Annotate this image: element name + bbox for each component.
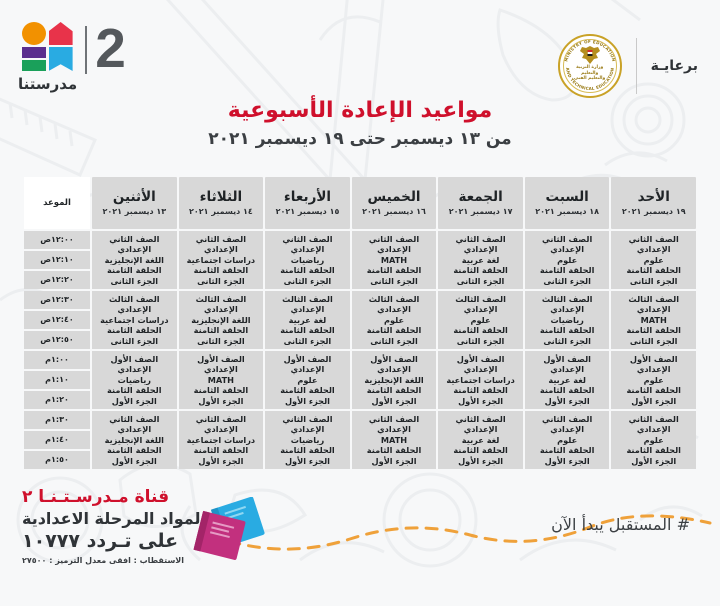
lesson-cell[interactable]: الصف الثاني الإعدادي رياضيات الحلقة الثا… bbox=[265, 411, 350, 469]
lesson-cell[interactable]: الصف الثالث الإعدادي اللغة الإنجليزية ال… bbox=[179, 291, 264, 349]
madrasatna-logo: مدرستنا bbox=[18, 22, 77, 93]
day-name: الخميس bbox=[352, 190, 437, 205]
time-slot[interactable]: ١٢:١٠ص bbox=[24, 251, 90, 269]
lesson-subject: MATH bbox=[353, 255, 436, 266]
lesson-cell[interactable]: الصف الأول الإعدادي علوم الحلقة الثامنة … bbox=[611, 351, 696, 409]
lesson-cell[interactable]: الصف الثاني الإعدادي دراسات اجتماعية الح… bbox=[179, 411, 264, 469]
lesson-part: الجزء الأول bbox=[266, 456, 349, 467]
madrasatna-logo-grid bbox=[22, 22, 74, 72]
day-date: ١٧ ديسمبر ٢٠٢١ bbox=[438, 207, 523, 216]
lesson-grade: الصف الثاني الإعدادي bbox=[526, 234, 609, 255]
time-slot[interactable]: ١٢:٢٠ص bbox=[24, 271, 90, 289]
lesson-cell[interactable]: الصف الثاني الإعدادي علوم الحلقة الثامنة… bbox=[525, 411, 610, 469]
lesson-episode: الحلقة الثامنة bbox=[266, 385, 349, 396]
lesson-part: الجزء الثانى bbox=[266, 276, 349, 287]
lesson-part: الجزء الأول bbox=[353, 456, 436, 467]
day-header-saturday: السبت ١٨ ديسمبر ٢٠٢١ bbox=[525, 177, 610, 229]
day-date: ١٦ ديسمبر ٢٠٢١ bbox=[352, 207, 437, 216]
lesson-grade: الصف الأول الإعدادي bbox=[353, 354, 436, 375]
time-slot-group: ١٢:٣٠ص ١٢:٤٠ص ١٢:٥٠ص bbox=[24, 291, 90, 349]
lesson-subject: MATH bbox=[180, 375, 263, 386]
lesson-episode: الحلقة الثامنة bbox=[612, 385, 695, 396]
day-date: ١٨ ديسمبر ٢٠٢١ bbox=[525, 207, 610, 216]
lesson-part: الجزء الثانى bbox=[266, 336, 349, 347]
lesson-subject: رياضيات bbox=[93, 375, 176, 386]
lesson-episode: الحلقة الثامنة bbox=[439, 265, 522, 276]
lesson-episode: الحلقة الثامنة bbox=[93, 445, 176, 456]
lesson-cell[interactable]: الصف الأول الإعدادي MATH الحلقة الثامنة … bbox=[179, 351, 264, 409]
lesson-episode: الحلقة الثامنة bbox=[93, 325, 176, 336]
lesson-cell[interactable]: الصف الثاني الإعدادي علوم الحلقة الثامنة… bbox=[611, 411, 696, 469]
lesson-grade: الصف الثالث الإعدادي bbox=[526, 294, 609, 315]
lesson-grade: الصف الثالث الإعدادي bbox=[439, 294, 522, 315]
hashtag-text: # المستقبل يبدأ الآن bbox=[551, 515, 690, 534]
day-header-thursday: الخميس ١٦ ديسمبر ٢٠٢١ bbox=[352, 177, 437, 229]
eagle-of-saladin-icon bbox=[579, 45, 601, 65]
logo-orange-circle-icon bbox=[22, 22, 46, 45]
lesson-cell[interactable]: الصف الثاني الإعدادي اللغة الإنجليزية ال… bbox=[92, 231, 177, 289]
lesson-subject: دراسات اجتماعية bbox=[180, 435, 263, 446]
lesson-part: الجزء الثانى bbox=[353, 336, 436, 347]
lesson-grade: الصف الأول الإعدادي bbox=[93, 354, 176, 375]
lesson-subject: MATH bbox=[353, 435, 436, 446]
lesson-part: الجزء الأول bbox=[93, 456, 176, 467]
day-header-tuesday: الثلاثاء ١٤ ديسمبر ٢٠٢١ bbox=[179, 177, 264, 229]
lesson-subject: رياضيات bbox=[266, 435, 349, 446]
table-row: الصف الأول الإعدادي علوم الحلقة الثامنة … bbox=[24, 351, 696, 409]
lesson-cell[interactable]: الصف الثالث الإعدادي علوم الحلقة الثامنة… bbox=[352, 291, 437, 349]
lesson-episode: الحلقة الثامنة bbox=[266, 445, 349, 456]
channel-brand-group: 2 مدرستنا bbox=[18, 22, 126, 93]
lesson-grade: الصف الثالث الإعدادي bbox=[93, 294, 176, 315]
lesson-cell[interactable]: الصف الثاني الإعدادي لغة عربية الحلقة ال… bbox=[438, 411, 523, 469]
logo-red-house-icon bbox=[49, 22, 73, 45]
lesson-grade: الصف الثاني الإعدادي bbox=[266, 234, 349, 255]
lesson-subject: علوم bbox=[266, 375, 349, 386]
lesson-part: الجزء الثانى bbox=[439, 336, 522, 347]
day-header-sunday: الأحد ١٩ ديسمبر ٢٠٢١ bbox=[611, 177, 696, 229]
lesson-subject: اللغة الإنجليزية bbox=[93, 255, 176, 266]
lesson-subject: علوم bbox=[612, 375, 695, 386]
lesson-grade: الصف الثاني الإعدادي bbox=[353, 414, 436, 435]
lesson-grade: الصف الأول الإعدادي bbox=[180, 354, 263, 375]
patron-label: برعايـة bbox=[651, 58, 698, 74]
footer: # المستقبل يبدأ الآن قناة مـدرسـتـنـا ٢ … bbox=[0, 479, 720, 589]
table-header-row: الأحد ١٩ ديسمبر ٢٠٢١ السبت ١٨ ديسمبر ٢٠٢… bbox=[24, 177, 696, 229]
lesson-cell[interactable]: الصف الأول الإعدادي دراسات اجتماعية الحل… bbox=[438, 351, 523, 409]
lesson-part: الجزء الأول bbox=[526, 456, 609, 467]
lesson-cell[interactable]: الصف الثاني الإعدادي لغة عربية الحلقة ال… bbox=[438, 231, 523, 289]
day-date: ١٩ ديسمبر ٢٠٢١ bbox=[611, 207, 696, 216]
schedule-section: الأحد ١٩ ديسمبر ٢٠٢١ السبت ١٨ ديسمبر ٢٠٢… bbox=[0, 175, 720, 471]
day-name: الأحد bbox=[611, 190, 696, 205]
lesson-part: الجزء الأول bbox=[526, 396, 609, 407]
schedule-table: الأحد ١٩ ديسمبر ٢٠٢١ السبت ١٨ ديسمبر ٢٠٢… bbox=[22, 175, 698, 471]
time-slot[interactable]: ١:٤٠م bbox=[24, 431, 90, 449]
lesson-subject: لغة عربية bbox=[526, 375, 609, 386]
channel-frequency: على تـردد ١٠٧٧٧ bbox=[22, 530, 201, 552]
day-name: الثلاثاء bbox=[179, 190, 264, 205]
day-header-friday: الجمعة ١٧ ديسمبر ٢٠٢١ bbox=[438, 177, 523, 229]
lesson-part: الجزء الثانى bbox=[353, 276, 436, 287]
lesson-cell[interactable]: الصف الثالث الإعدادي علوم الحلقة الثامنة… bbox=[438, 291, 523, 349]
lesson-episode: الحلقة الثامنة bbox=[180, 265, 263, 276]
day-date: ١٤ ديسمبر ٢٠٢١ bbox=[179, 207, 264, 216]
lesson-cell[interactable]: الصف الثالث الإعدادي رياضيات الحلقة الثا… bbox=[525, 291, 610, 349]
time-column-header: الموعد bbox=[24, 177, 90, 229]
lesson-grade: الصف الثاني الإعدادي bbox=[266, 414, 349, 435]
lesson-grade: الصف الأول الإعدادي bbox=[266, 354, 349, 375]
lesson-grade: الصف الثاني الإعدادي bbox=[439, 234, 522, 255]
lesson-part: الجزء الثانى bbox=[180, 336, 263, 347]
time-slot[interactable]: ١:٠٠م bbox=[24, 351, 90, 369]
lesson-cell[interactable]: الصف الثاني الإعدادي اللغة الإنجليزية ال… bbox=[92, 411, 177, 469]
logo-green-bar-icon bbox=[22, 60, 46, 71]
lesson-episode: الحلقة الثامنة bbox=[612, 445, 695, 456]
lesson-part: الجزء الأول bbox=[266, 396, 349, 407]
lesson-part: الجزء الثانى bbox=[526, 276, 609, 287]
lesson-part: الجزء الثانى bbox=[93, 276, 176, 287]
lesson-grade: الصف الثاني الإعدادي bbox=[526, 414, 609, 435]
lesson-episode: الحلقة الثامنة bbox=[353, 325, 436, 336]
lesson-part: الجزء الثانى bbox=[93, 336, 176, 347]
lesson-episode: الحلقة الثامنة bbox=[439, 445, 522, 456]
lesson-part: الجزء الثانى bbox=[526, 336, 609, 347]
time-slot[interactable]: ١٢:٠٠ص bbox=[24, 231, 90, 249]
lesson-grade: الصف الأول الإعدادي bbox=[612, 354, 695, 375]
lesson-episode: الحلقة الثامنة bbox=[612, 325, 695, 336]
lesson-cell[interactable]: الصف الأول الإعدادي اللغة الإنجليزية الح… bbox=[352, 351, 437, 409]
lesson-grade: الصف الثالث الإعدادي bbox=[266, 294, 349, 315]
patron-brand-group: MINISTRY OF EDUCATION AND TECHNICAL EDUC… bbox=[558, 34, 698, 98]
time-slot[interactable]: ١٢:٣٠ص bbox=[24, 291, 90, 309]
lesson-episode: الحلقة الثامنة bbox=[526, 385, 609, 396]
lesson-episode: الحلقة الثامنة bbox=[612, 265, 695, 276]
lesson-cell[interactable]: الصف الثاني الإعدادي علوم الحلقة الثامنة… bbox=[611, 231, 696, 289]
lesson-part: الجزء الأول bbox=[93, 396, 176, 407]
table-row: الصف الثالث الإعدادي MATH الحلقة الثامنة… bbox=[24, 291, 696, 349]
lesson-grade: الصف الثاني الإعدادي bbox=[612, 234, 695, 255]
lesson-episode: الحلقة الثامنة bbox=[353, 445, 436, 456]
ministry-emblem-icon: MINISTRY OF EDUCATION AND TECHNICAL EDUC… bbox=[558, 34, 622, 98]
lesson-subject: لغة عربية bbox=[439, 255, 522, 266]
lesson-cell[interactable]: الصف الثاني الإعدادي MATH الحلقة الثامنة… bbox=[352, 411, 437, 469]
lesson-episode: الحلقة الثامنة bbox=[266, 265, 349, 276]
lesson-episode: الحلقة الثامنة bbox=[439, 325, 522, 336]
lesson-cell[interactable]: الصف الثاني الإعدادي رياضيات الحلقة الثا… bbox=[265, 231, 350, 289]
lesson-cell[interactable]: الصف الثالث الإعدادي دراسات اجتماعية الح… bbox=[92, 291, 177, 349]
header-divider bbox=[636, 38, 637, 94]
logo-purple-bar-icon bbox=[22, 47, 46, 58]
lesson-cell[interactable]: الصف الأول الإعدادي رياضيات الحلقة الثام… bbox=[92, 351, 177, 409]
lesson-episode: الحلقة الثامنة bbox=[93, 265, 176, 276]
lesson-grade: الصف الأول الإعدادي bbox=[439, 354, 522, 375]
day-name: الجمعة bbox=[438, 190, 523, 205]
lesson-cell[interactable]: الصف الأول الإعدادي لغة عربية الحلقة الث… bbox=[525, 351, 610, 409]
lesson-subject: MATH bbox=[612, 315, 695, 326]
lesson-subject: علوم bbox=[612, 255, 695, 266]
time-slot-group: ١٢:٠٠ص ١٢:١٠ص ١٢:٢٠ص bbox=[24, 231, 90, 289]
lesson-part: الجزء الثانى bbox=[439, 276, 522, 287]
lesson-subject: علوم bbox=[612, 435, 695, 446]
lesson-episode: الحلقة الثامنة bbox=[526, 445, 609, 456]
time-slot[interactable]: ١٢:٤٠ص bbox=[24, 311, 90, 329]
day-date: ١٣ ديسمبر ٢٠٢١ bbox=[92, 207, 177, 216]
lesson-subject: علوم bbox=[526, 435, 609, 446]
lesson-part: الجزء الأول bbox=[180, 456, 263, 467]
logo-wordmark: مدرستنا bbox=[18, 75, 77, 93]
lesson-cell[interactable]: الصف الثالث الإعدادي لغة عربية الحلقة ال… bbox=[265, 291, 350, 349]
header: MINISTRY OF EDUCATION AND TECHNICAL EDUC… bbox=[0, 0, 720, 175]
lesson-subject: دراسات اجتماعية bbox=[439, 375, 522, 386]
lesson-episode: الحلقة الثامنة bbox=[353, 265, 436, 276]
day-header-wednesday: الأربعاء ١٥ ديسمبر ٢٠٢١ bbox=[265, 177, 350, 229]
lesson-part: الجزء الأول bbox=[439, 396, 522, 407]
lesson-episode: الحلقة الثامنة bbox=[180, 325, 263, 336]
day-name: الأثنين bbox=[92, 190, 177, 205]
lesson-part: الجزء الأول bbox=[612, 396, 695, 407]
time-slot[interactable]: ١:٣٠م bbox=[24, 411, 90, 429]
lesson-subject: علوم bbox=[439, 315, 522, 326]
lesson-subject: لغة عربية bbox=[439, 435, 522, 446]
lesson-subject: دراسات اجتماعية bbox=[93, 315, 176, 326]
lesson-episode: الحلقة الثامنة bbox=[353, 385, 436, 396]
lesson-part: الجزء الأول bbox=[612, 456, 695, 467]
lesson-subject: اللغة الإنجليزية bbox=[180, 315, 263, 326]
lesson-episode: الحلقة الثامنة bbox=[266, 325, 349, 336]
day-name: السبت bbox=[525, 190, 610, 205]
lesson-subject: علوم bbox=[353, 315, 436, 326]
channel-technical-details: الاستقطاب : افقى معدل الترميز : ٢٧٥٠٠ bbox=[22, 556, 201, 565]
lesson-grade: الصف الثالث الإعدادي bbox=[353, 294, 436, 315]
schedule-table-head: الأحد ١٩ ديسمبر ٢٠٢١ السبت ١٨ ديسمبر ٢٠٢… bbox=[24, 177, 696, 229]
lesson-cell[interactable]: الصف الثاني الإعدادي دراسات اجتماعية الح… bbox=[179, 231, 264, 289]
lesson-grade: الصف الثاني الإعدادي bbox=[93, 414, 176, 435]
lesson-episode: الحلقة الثامنة bbox=[180, 445, 263, 456]
emblem-arabic-caption: وزارة التربية والتعليم والتعليم الفني bbox=[570, 65, 610, 82]
lesson-part: الجزء الثانى bbox=[612, 336, 695, 347]
lesson-subject: اللغة الإنجليزية bbox=[353, 375, 436, 386]
lesson-grade: الصف الثاني الإعدادي bbox=[93, 234, 176, 255]
lesson-part: الجزء الثانى bbox=[612, 276, 695, 287]
lesson-cell[interactable]: الصف الثاني الإعدادي علوم الحلقة الثامنة… bbox=[525, 231, 610, 289]
lesson-subject: رياضيات bbox=[266, 255, 349, 266]
channel-name: قناة مـدرسـتـنـا ٢ bbox=[22, 487, 201, 507]
lesson-cell[interactable]: الصف الثالث الإعدادي MATH الحلقة الثامنة… bbox=[611, 291, 696, 349]
channel-info-block: قناة مـدرسـتـنـا ٢ لمواد المرحلة الاعداد… bbox=[22, 487, 201, 565]
time-header-label: الموعد bbox=[24, 198, 90, 208]
lesson-grade: الصف الثاني الإعدادي bbox=[180, 414, 263, 435]
channel-audience: لمواد المرحلة الاعدادية bbox=[22, 509, 201, 528]
lesson-part: الجزء الأول bbox=[180, 396, 263, 407]
lesson-part: الجزء الثانى bbox=[180, 276, 263, 287]
time-slot-group: ١:٣٠م ١:٤٠م ١:٥٠م bbox=[24, 411, 90, 469]
lesson-subject: رياضيات bbox=[526, 315, 609, 326]
time-slot[interactable]: ١:٥٠م bbox=[24, 451, 90, 469]
lesson-subject: علوم bbox=[526, 255, 609, 266]
lesson-part: الجزء الأول bbox=[353, 396, 436, 407]
lesson-cell[interactable]: الصف الثاني الإعدادي MATH الحلقة الثامنة… bbox=[352, 231, 437, 289]
lesson-subject: اللغة الإنجليزية bbox=[93, 435, 176, 446]
lesson-grade: الصف الثاني الإعدادي bbox=[439, 414, 522, 435]
page-title: مواعيد الإعادة الأسبوعية bbox=[0, 98, 720, 123]
lesson-episode: الحلقة الثامنة bbox=[526, 325, 609, 336]
lesson-episode: الحلقة الثامنة bbox=[526, 265, 609, 276]
time-slot[interactable]: ١:١٠م bbox=[24, 371, 90, 389]
title-block: مواعيد الإعادة الأسبوعية من ١٣ ديسمبر حت… bbox=[0, 98, 720, 149]
lesson-grade: الصف الثاني الإعدادي bbox=[353, 234, 436, 255]
table-row: الصف الثاني الإعدادي علوم الحلقة الثامنة… bbox=[24, 411, 696, 469]
page-subtitle: من ١٣ ديسمبر حتى ١٩ ديسمبر ٢٠٢١ bbox=[0, 129, 720, 149]
lesson-episode: الحلقة الثامنة bbox=[439, 385, 522, 396]
day-name: الأربعاء bbox=[265, 190, 350, 205]
lesson-grade: الصف الأول الإعدادي bbox=[526, 354, 609, 375]
lesson-grade: الصف الثاني الإعدادي bbox=[612, 414, 695, 435]
lesson-subject: دراسات اجتماعية bbox=[180, 255, 263, 266]
schedule-table-body: الصف الثاني الإعدادي علوم الحلقة الثامنة… bbox=[24, 231, 696, 469]
logo-blue-bookmark-icon bbox=[49, 47, 73, 71]
poster-root: MINISTRY OF EDUCATION AND TECHNICAL EDUC… bbox=[0, 0, 720, 606]
time-slot[interactable]: ١:٢٠م bbox=[24, 391, 90, 409]
lesson-grade: الصف الثالث الإعدادي bbox=[180, 294, 263, 315]
lesson-cell[interactable]: الصف الأول الإعدادي علوم الحلقة الثامنة … bbox=[265, 351, 350, 409]
lesson-episode: الحلقة الثامنة bbox=[180, 385, 263, 396]
lesson-episode: الحلقة الثامنة bbox=[93, 385, 176, 396]
lesson-grade: الصف الثاني الإعدادي bbox=[180, 234, 263, 255]
channel-number: 2 bbox=[95, 22, 126, 74]
day-header-monday: الأثنين ١٣ ديسمبر ٢٠٢١ bbox=[92, 177, 177, 229]
lesson-part: الجزء الأول bbox=[439, 456, 522, 467]
lesson-grade: الصف الثالث الإعدادي bbox=[612, 294, 695, 315]
lesson-subject: لغة عربية bbox=[266, 315, 349, 326]
channel-divider bbox=[85, 26, 87, 74]
time-slot[interactable]: ١٢:٥٠ص bbox=[24, 331, 90, 349]
day-date: ١٥ ديسمبر ٢٠٢١ bbox=[265, 207, 350, 216]
table-row: الصف الثاني الإعدادي علوم الحلقة الثامنة… bbox=[24, 231, 696, 289]
time-slot-group: ١:٠٠م ١:١٠م ١:٢٠م bbox=[24, 351, 90, 409]
